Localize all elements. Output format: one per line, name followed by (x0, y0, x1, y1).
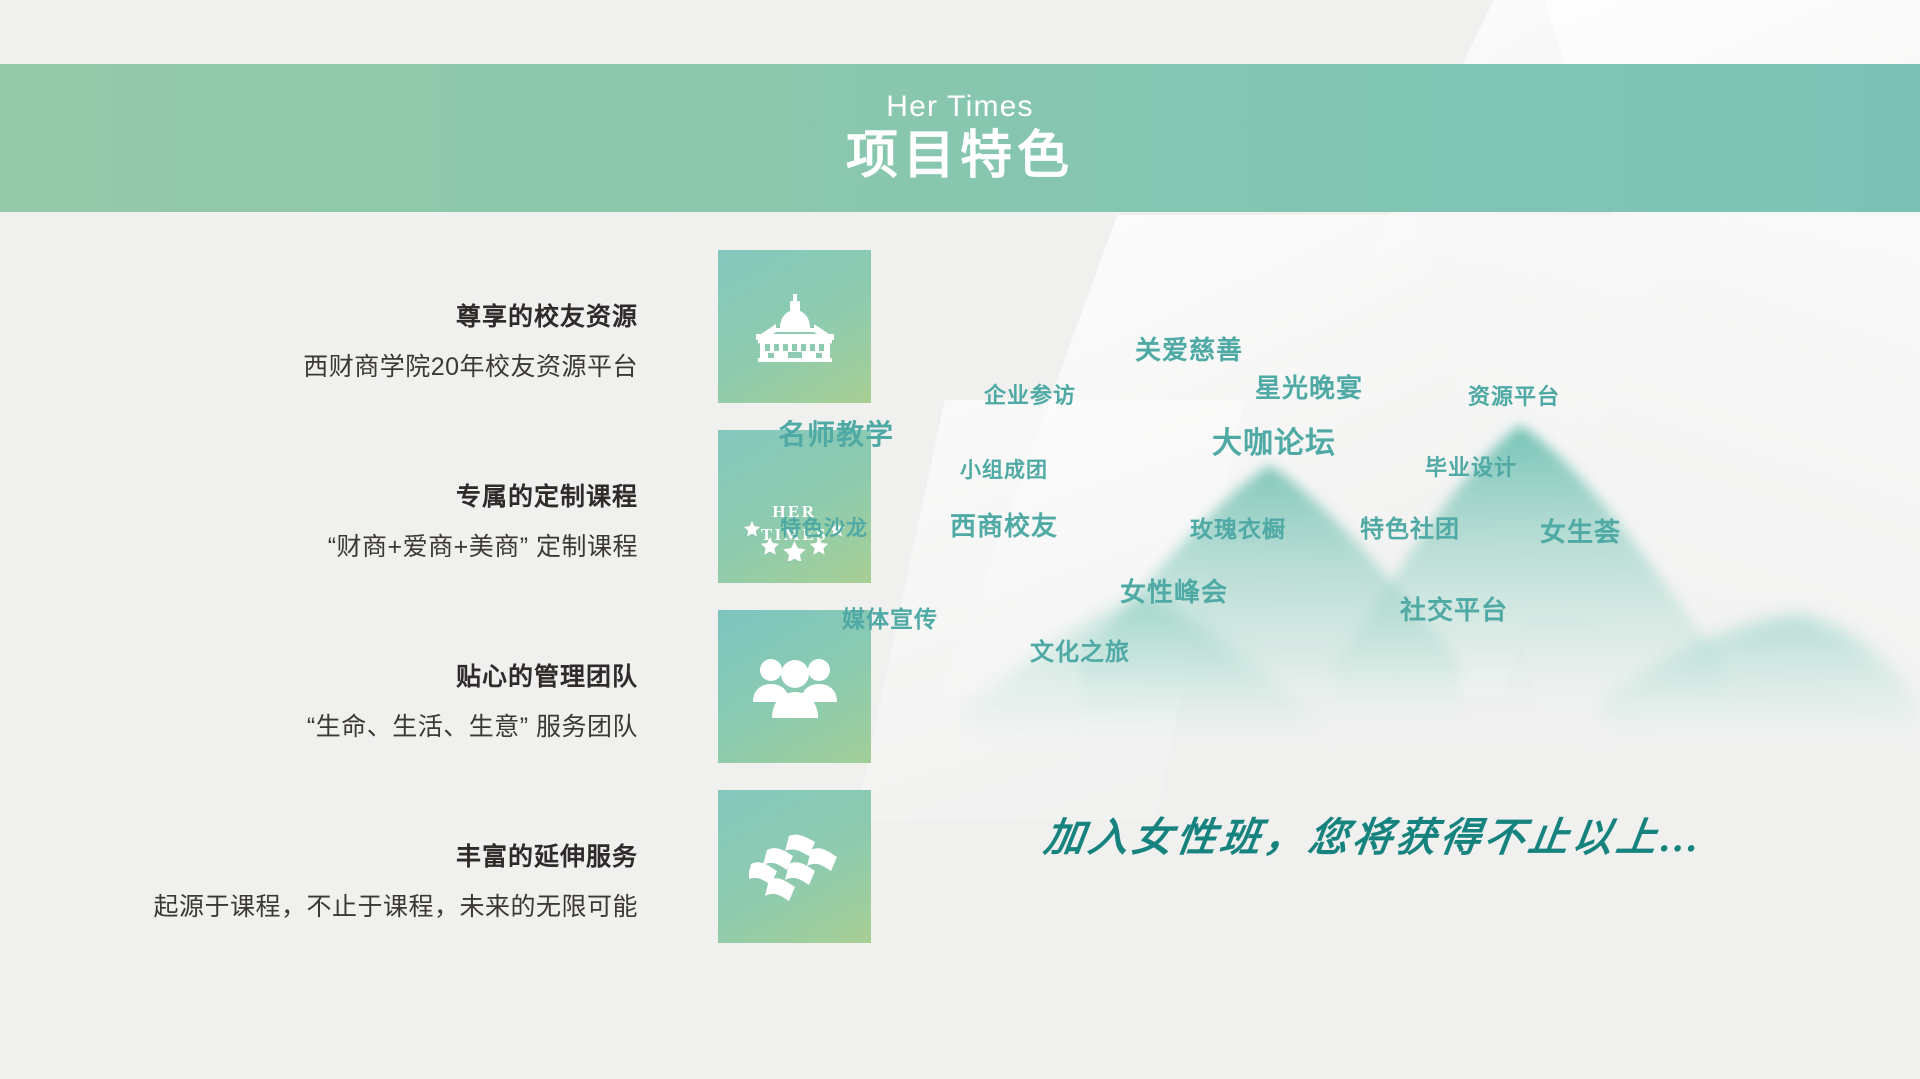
campus-building-icon (750, 292, 840, 362)
keyword-item: 大咖论坛 (1212, 418, 1336, 462)
feature-list: 尊享的校友资源 西财商学院20年校友资源平台 专属的定制课程 “财商+爱商+美商… (60, 250, 660, 970)
keyword-item: 女生荟 (1540, 512, 1621, 549)
keyword-cloud: 关爱慈善 企业参访 星光晚宴 资源平台 名师教学 大咖论坛 小组成团 毕业设计 … (960, 330, 1920, 750)
keyword-item: 社交平台 (1400, 590, 1508, 627)
keyword-item: 星光晚宴 (1255, 368, 1363, 405)
feature-description: 西财商学院20年校友资源平台 (303, 347, 638, 383)
feature-title: 丰富的延伸服务 (456, 837, 638, 873)
icon-tile-1 (718, 250, 871, 403)
keyword-item: 毕业设计 (1425, 450, 1517, 482)
feature-title: 贴心的管理团队 (456, 657, 638, 693)
people-group-icon (752, 654, 838, 720)
feature-description: “财商+爱商+美商” 定制课程 (328, 527, 638, 563)
feature-item-1: 尊享的校友资源 西财商学院20年校友资源平台 (60, 250, 660, 430)
page-title: 项目特色 (846, 127, 1074, 187)
feature-item-2: 专属的定制课程 “财商+爱商+美商” 定制课程 (60, 430, 660, 610)
waves-icon (749, 830, 841, 904)
feature-title: 专属的定制课程 (456, 477, 638, 513)
feature-item-4: 丰富的延伸服务 起源于课程，不止于课程，未来的无限可能 (60, 790, 660, 970)
icon-tile-4 (718, 790, 871, 943)
header-banner: Her Times 项目特色 (0, 64, 1920, 212)
keyword-item: 企业参访 (984, 378, 1076, 410)
keyword-item: 资源平台 (1468, 379, 1560, 411)
keyword-item: 西商校友 (950, 506, 1058, 543)
feature-description: 起源于课程，不止于课程，未来的无限可能 (153, 887, 638, 923)
keyword-item: 媒体宣传 (842, 600, 938, 634)
tagline: 加入女性班，您将获得不止以上… (1041, 805, 1709, 863)
keyword-item: 女性峰会 (1120, 572, 1228, 609)
feature-description: “生命、生活、生意” 服务团队 (307, 707, 638, 743)
feature-item-3: 贴心的管理团队 “生命、生活、生意” 服务团队 (60, 610, 660, 790)
keyword-item: 名师教学 (778, 413, 894, 453)
keyword-item: 小组成团 (960, 454, 1048, 484)
keyword-item: 玫瑰衣橱 (1190, 510, 1286, 544)
banner-eyebrow: Her Times (886, 90, 1034, 123)
keyword-item: 关爱慈善 (1135, 330, 1243, 367)
feature-title: 尊享的校友资源 (456, 297, 638, 333)
keyword-item: 特色社团 (1360, 509, 1460, 544)
keyword-item: 特色沙龙 (780, 512, 868, 542)
keyword-item: 文化之旅 (1030, 632, 1130, 667)
